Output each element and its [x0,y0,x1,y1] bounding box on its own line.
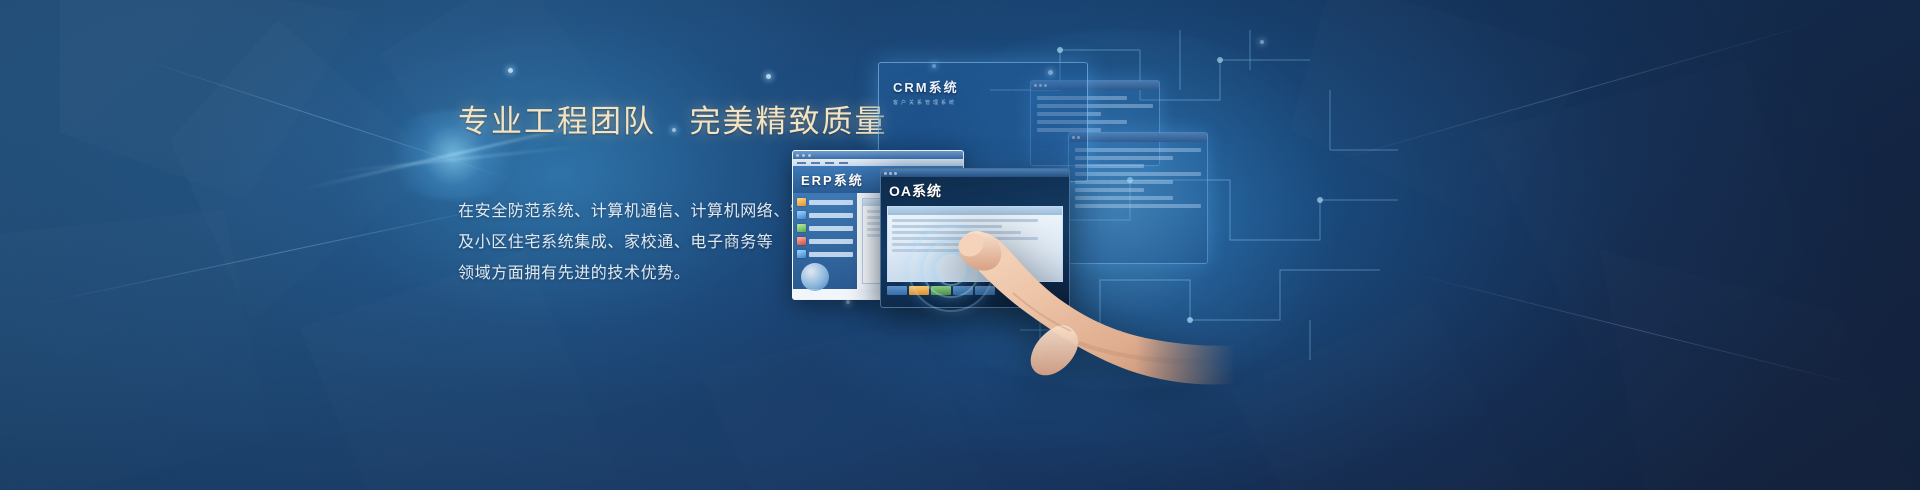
sidebar-item-label [809,226,853,231]
window-dot-icon [796,154,799,157]
polygon-shape [0,210,270,490]
window-chrome [881,169,1069,177]
polygon-shape [1290,0,1590,230]
report-icon [797,237,806,245]
window-content [1069,142,1207,214]
content-row [1075,180,1173,184]
menu-item[interactable] [797,162,806,164]
content-row [1075,172,1201,176]
window-chrome [1069,133,1207,142]
settings-icon [797,250,806,258]
sidebar-item[interactable] [797,237,853,245]
crm-window-subtitle: 客户关系管理系统 [893,99,1087,106]
headline-part-1: 专业工程团队 [458,104,656,139]
menu-bar[interactable] [793,159,963,166]
polygon-shape [1480,60,1810,360]
sidebar-item[interactable] [797,211,853,219]
window-chrome [793,151,963,159]
polygon-shape [170,20,440,320]
window-dot-icon [894,172,897,175]
sparkle-dot [766,74,771,79]
oa-window-title: OA系统 [889,181,1061,201]
menu-item[interactable] [811,162,820,164]
oa-title-bar: OA系统 [881,177,1069,204]
oa-tab[interactable] [887,286,907,295]
window-dot-icon [889,172,892,175]
sidebar-item[interactable] [797,250,853,258]
accent-line [1330,18,1830,162]
chart-icon [797,211,806,219]
sparkle-dot [508,68,513,73]
content-row [1075,188,1144,192]
folder-icon [797,198,806,206]
menu-item[interactable] [839,162,848,164]
window-dot-icon [808,154,811,157]
crm-window-title: CRM系统 [893,77,1087,96]
sidebar-item-label [809,252,853,257]
pointing-hand-icon [905,215,1235,395]
sidebar-item[interactable] [797,224,853,232]
window-dot-icon [884,172,887,175]
sidebar-item-label [809,200,853,205]
content-row [1075,148,1201,152]
accent-line [1407,272,1873,389]
window-dot-icon [802,154,805,157]
erp-logo-icon [801,263,829,291]
polygon-shape [60,0,360,200]
content-row [1075,196,1173,200]
crm-header: CRM系统 客户关系管理系统 [879,63,1087,106]
polygon-shape [1230,300,1530,490]
sidebar-item[interactable] [797,198,853,206]
menu-item[interactable] [825,162,834,164]
sparkle-dot [1260,40,1264,44]
polygon-shape [1600,250,1920,490]
hero-banner: 专业工程团队 完美精致质量 在安全防范系统、计算机通信、计算机网络、智能大厦 及… [0,0,1920,490]
panel-header [888,207,1062,215]
sidebar-item-label [809,239,853,244]
content-row [1075,156,1173,160]
database-icon [797,224,806,232]
sidebar-item-label [809,213,853,218]
content-row [1075,204,1201,208]
